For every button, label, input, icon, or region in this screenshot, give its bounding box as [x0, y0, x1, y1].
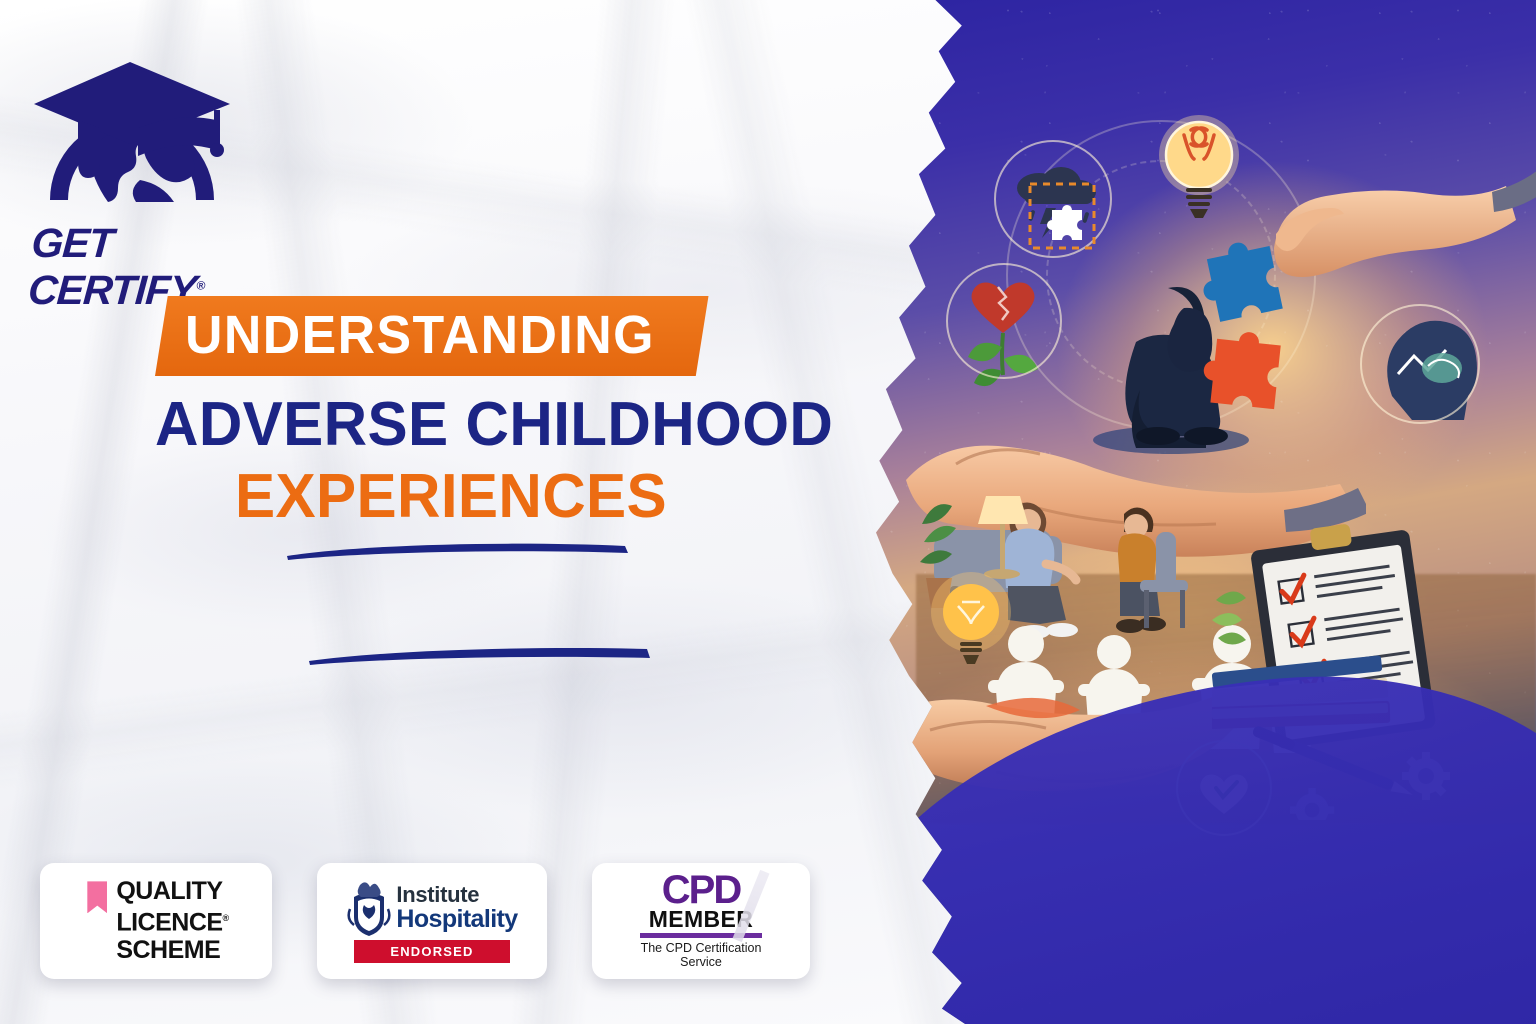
qls-line-3: SCHEME — [116, 937, 228, 964]
puzzle-piece-orange — [1196, 320, 1296, 420]
ioh-line-1: Institute — [396, 884, 517, 906]
small-puzzle-marker-icon — [1026, 180, 1106, 260]
qls-line-2: LICENCE — [116, 909, 222, 937]
headline-underlines — [285, 540, 630, 670]
headline-block: UNDERSTANDING ADVERSE CHILDHOOD EXPERIEN… — [155, 296, 915, 532]
head-profile-brain-icon — [1356, 300, 1486, 430]
badge-cpd-member[interactable]: CPD MEMBER The CPD Certification Service — [592, 863, 810, 979]
pink-ribbon-bookmark-icon — [87, 881, 107, 913]
cpd-line-1: CPD — [662, 873, 740, 907]
headline-line-1: UNDERSTANDING — [185, 307, 655, 363]
badge-institute-of-hospitality[interactable]: Institute Hospitality ENDORSED — [317, 863, 547, 979]
cpd-line-3: The CPD Certification — [641, 941, 762, 955]
ioh-wordmark: Institute Hospitality — [396, 884, 517, 932]
accreditation-badges: QUALITY LICENCE® SCHEME — [40, 863, 810, 979]
poster-canvas: GET CERTIFY® UNDERSTANDING ADVERSE CHILD… — [0, 0, 1536, 1024]
underline-stroke-1 — [285, 540, 630, 562]
lightbulb-icon — [1144, 100, 1254, 240]
ioh-endorsed-badge: ENDORSED — [354, 940, 509, 963]
heraldic-crest-icon — [346, 879, 392, 937]
ioh-line-2: Hospitality — [396, 907, 517, 932]
cpd-subtitle: The CPD Certification Service — [641, 941, 762, 969]
qls-line-1: QUALITY — [116, 878, 228, 905]
qls-text: QUALITY LICENCE® SCHEME — [116, 878, 228, 963]
artwork-panel — [876, 0, 1536, 1024]
cpd-line-4: Service — [641, 955, 762, 969]
underline-stroke-2 — [307, 644, 652, 666]
headline-line-3: EXPERIENCES — [235, 462, 895, 532]
headline-banner: UNDERSTANDING — [155, 296, 709, 376]
graduation-cap-globe-icon — [18, 32, 246, 232]
badge-quality-licence-scheme[interactable]: QUALITY LICENCE® SCHEME — [40, 863, 272, 979]
brand-logo[interactable]: GET CERTIFY® — [18, 32, 246, 244]
headline-line-2: ADVERSE CHILDHOOD — [155, 390, 892, 460]
